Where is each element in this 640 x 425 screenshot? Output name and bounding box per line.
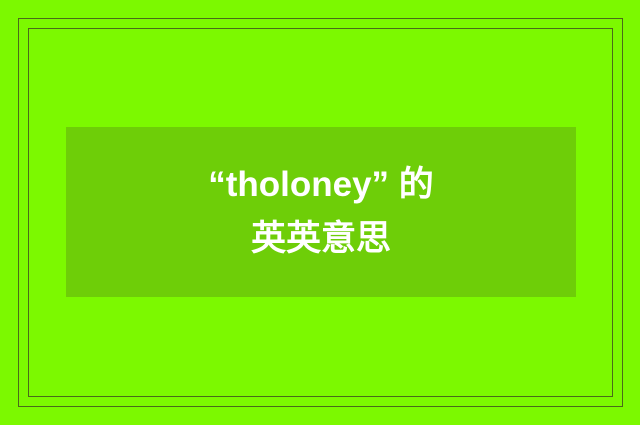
- page-title: “tholoney” 的英英意思: [196, 158, 446, 267]
- title-card: “tholoney” 的英英意思: [66, 127, 576, 297]
- poster-canvas: “tholoney” 的英英意思: [0, 0, 640, 425]
